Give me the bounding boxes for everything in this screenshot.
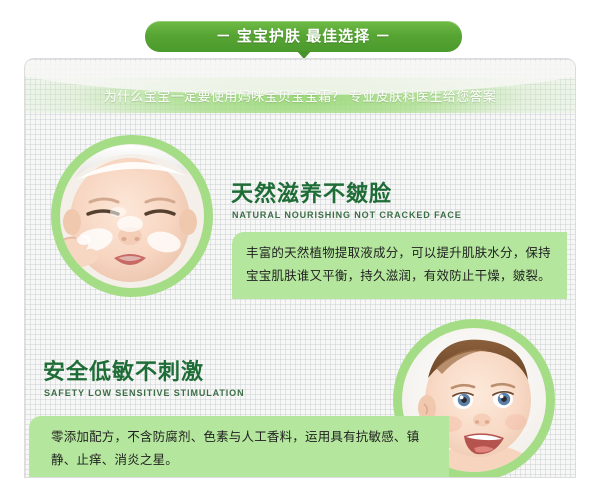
- content-card: 为什么宝宝一定要使用妈咪宝贝宝宝霜？ 专业皮肤科医生给您答案: [24, 58, 576, 478]
- section-2-heading-en: SAFETY LOW SENSITIVE STIMULATION: [44, 388, 244, 398]
- section-1-heading: 天然滋养不皴脸 NATURAL NOURISHING NOT CRACKED F…: [231, 181, 462, 220]
- section-2-text-box: 零添加配方，不含防腐剂、色素与人工香料，运用具有抗敏感、镇静、止痒、消炎之星。: [29, 416, 449, 478]
- title-banner-pill: － 宝宝护肤 最佳选择 －: [145, 21, 462, 52]
- section-1-heading-en: NATURAL NOURISHING NOT CRACKED FACE: [232, 210, 462, 220]
- section-2-heading: 安全低敏不刺激 SAFETY LOW SENSITIVE STIMULATION: [43, 359, 244, 398]
- section-1-heading-cn: 天然滋养不皴脸: [231, 181, 462, 206]
- title-banner: － 宝宝护肤 最佳选择 －: [145, 21, 462, 52]
- subtitle-band: 为什么宝宝一定要使用妈咪宝贝宝宝霜？ 专业皮肤科医生给您答案: [25, 77, 575, 113]
- photo-baby-with-cream-image: [60, 144, 204, 288]
- section-1-text-box: 丰富的天然植物提取液成分，可以提升肌肤水分，保持宝宝肌肤谁又平衡，持久滋润，有效…: [232, 232, 567, 299]
- section-1-body: 丰富的天然植物提取液成分，可以提升肌肤水分，保持宝宝肌肤谁又平衡，持久滋润，有效…: [246, 242, 553, 288]
- subtitle-text: 为什么宝宝一定要使用妈咪宝贝宝宝霜？ 专业皮肤科医生给您答案: [25, 77, 575, 113]
- photo-baby-with-cream: [51, 135, 213, 297]
- banner-title: － 宝宝护肤 最佳选择 －: [216, 29, 392, 44]
- section-2-heading-cn: 安全低敏不刺激: [43, 359, 244, 384]
- baby-cream-illustration: [60, 144, 204, 288]
- promo-page: － 宝宝护肤 最佳选择 － 为什么宝宝一定要使用妈咪宝贝宝宝霜？ 专业皮肤科医生…: [0, 0, 600, 478]
- section-2-body: 零添加配方，不含防腐剂、色素与人工香料，运用具有抗敏感、镇静、止痒、消炎之星。: [51, 426, 435, 472]
